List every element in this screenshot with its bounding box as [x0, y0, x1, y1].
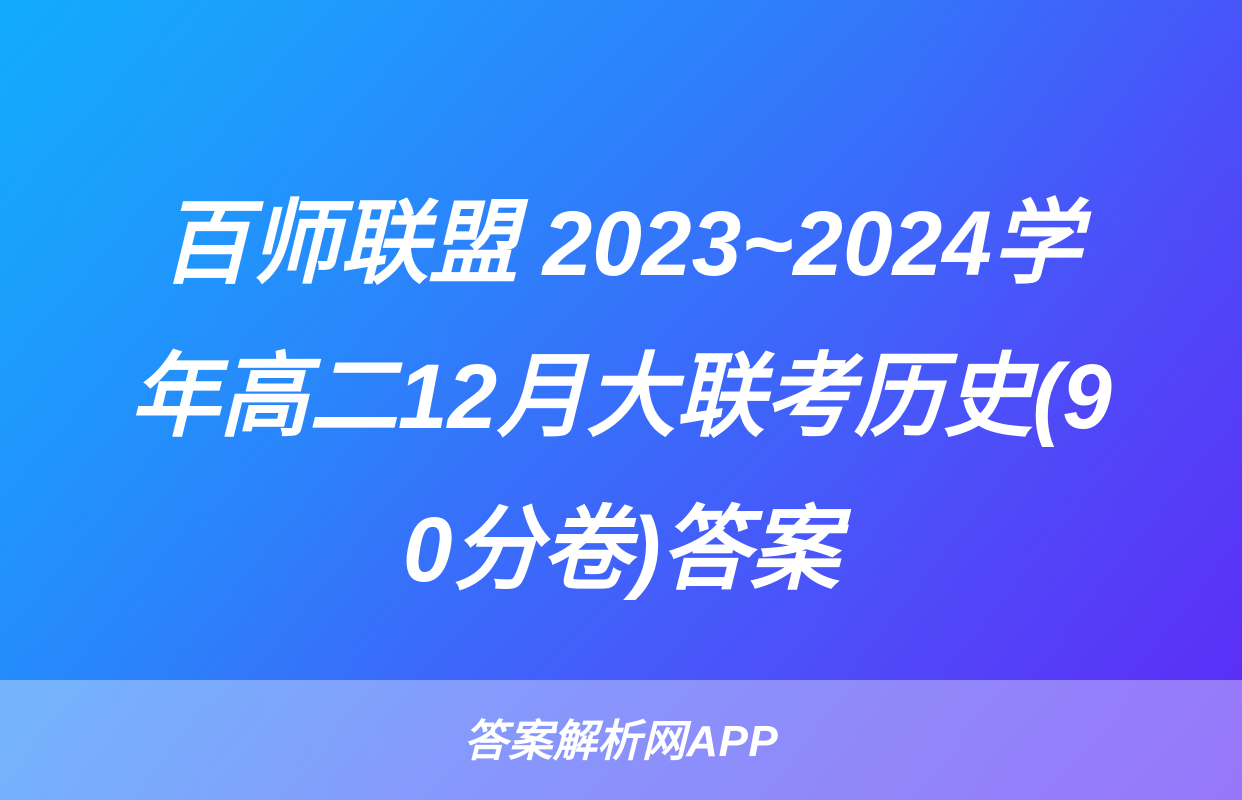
poster-canvas: 百师联盟 2023~2024学 年高二12月大联考历史(9 0分卷)答案 答案解… [0, 0, 1242, 800]
title-line-1: 百师联盟 2023~2024学 [98, 168, 1144, 321]
poster-title-block: 百师联盟 2023~2024学 年高二12月大联考历史(9 0分卷)答案 [0, 168, 1242, 627]
title-line-3: 0分卷)答案 [98, 474, 1144, 627]
title-line-2: 年高二12月大联考历史(9 [98, 321, 1144, 474]
footer-watermark-band: 答案解析网APP [0, 680, 1242, 800]
footer-brand-label: 答案解析网APP [464, 720, 778, 764]
